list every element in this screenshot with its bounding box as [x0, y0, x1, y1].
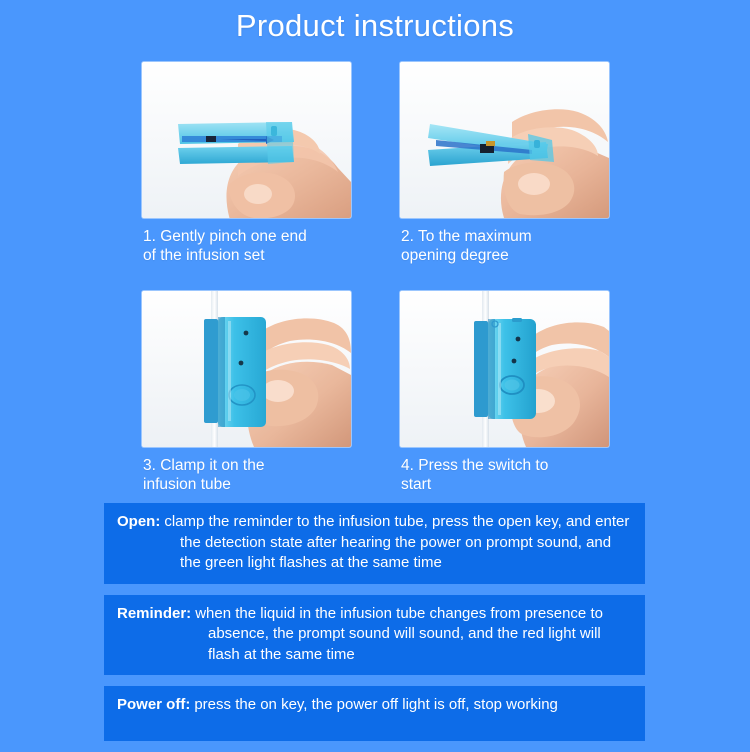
clip-opened-wide-illustration [400, 62, 609, 218]
steps-grid: 1. Gently pinch one end of the infusion … [142, 62, 610, 494]
step-3: 3. Clamp it on the infusion tube [142, 291, 351, 494]
step-3-caption: 3. Clamp it on the infusion tube [142, 456, 351, 494]
steps-row-bottom: 3. Clamp it on the infusion tube [142, 291, 610, 494]
panel-reminder-lead: Reminder: [117, 605, 195, 622]
info-panels: Open:clamp the reminder to the infusion … [104, 503, 645, 752]
panel-reminder-body: Reminder:when the liquid in the infusion… [117, 604, 632, 666]
hand-pinching-clip-illustration [142, 62, 351, 218]
panel-open-lead: Open: [117, 513, 164, 530]
panel-open: Open:clamp the reminder to the infusion … [104, 503, 645, 584]
page-title: Product instructions [0, 8, 750, 44]
panel-power-off: Power off:press the on key, the power of… [104, 686, 645, 741]
panel-reminder: Reminder:when the liquid in the infusion… [104, 595, 645, 676]
step-3-photo [142, 291, 351, 447]
steps-row-gap [142, 265, 610, 291]
step-1-photo [142, 62, 351, 218]
panel-power-off-body: Power off:press the on key, the power of… [117, 695, 632, 716]
panel-power-off-lead: Power off: [117, 696, 194, 713]
step-1: 1. Gently pinch one end of the infusion … [142, 62, 351, 265]
step-4-caption: 4. Press the switch to start [400, 456, 609, 494]
step-4-photo [400, 291, 609, 447]
step-2: 2. To the maximum opening degree [400, 62, 609, 265]
panel-open-body: Open:clamp the reminder to the infusion … [117, 512, 632, 574]
clip-clamped-on-tube-illustration [142, 291, 351, 447]
step-2-photo [400, 62, 609, 218]
steps-row-top: 1. Gently pinch one end of the infusion … [142, 62, 610, 265]
step-1-caption: 1. Gently pinch one end of the infusion … [142, 227, 351, 265]
pressing-switch-illustration [400, 291, 609, 447]
step-2-caption: 2. To the maximum opening degree [400, 227, 609, 265]
step-4: 4. Press the switch to start [400, 291, 609, 494]
panel-open-text: clamp the reminder to the infusion tube,… [164, 513, 629, 571]
panel-reminder-text: when the liquid in the infusion tube cha… [195, 605, 603, 663]
panel-power-off-text: press the on key, the power off light is… [194, 696, 558, 713]
